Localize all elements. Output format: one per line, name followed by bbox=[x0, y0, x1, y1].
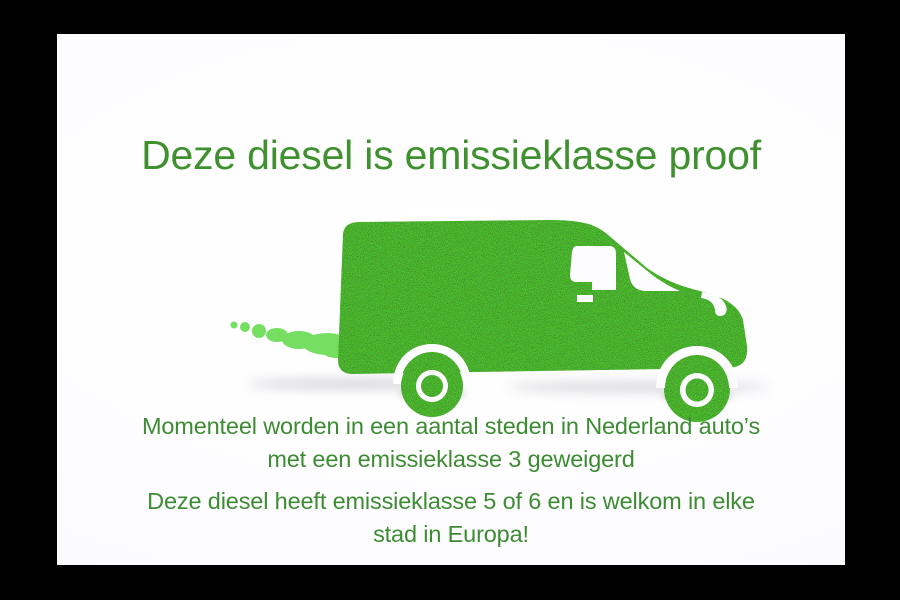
paragraph-restriction-line-1: Momenteel worden in een aantal steden in… bbox=[57, 410, 845, 443]
paragraph-compliance: Deze diesel heeft emissieklasse 5 of 6 e… bbox=[57, 485, 845, 551]
paragraph-compliance-line-2: stad in Europa! bbox=[57, 518, 845, 551]
poster-frame: Deze diesel is emissieklasse proof bbox=[0, 0, 900, 600]
page-title: Deze diesel is emissieklasse proof bbox=[57, 132, 845, 178]
green-exhaust-puff bbox=[231, 322, 352, 359]
poster-canvas: Deze diesel is emissieklasse proof bbox=[57, 34, 845, 565]
door-handle bbox=[577, 295, 593, 302]
van-illustration bbox=[177, 194, 837, 429]
paragraph-restriction: Momenteel worden in een aantal steden in… bbox=[57, 410, 845, 476]
paragraph-compliance-line-1: Deze diesel heeft emissieklasse 5 of 6 e… bbox=[57, 485, 845, 518]
paragraph-restriction-line-2: met een emissieklasse 3 geweigerd bbox=[57, 443, 845, 476]
